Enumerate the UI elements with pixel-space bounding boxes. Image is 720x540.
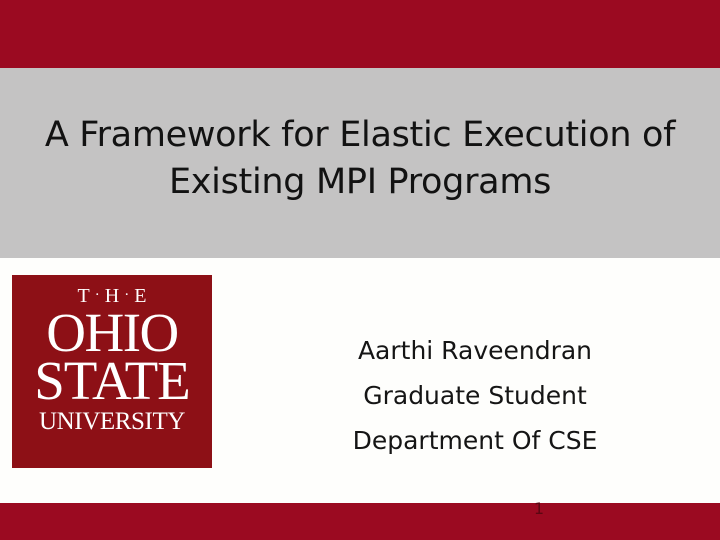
logo-word-state: STATE [12,355,212,407]
logo-word-university: UNIVERSITY [12,408,212,436]
logo-dot-1: · [93,287,102,303]
top-accent-band [0,0,720,68]
presentation-slide: A Framework for Elastic Execution of Exi… [0,0,720,540]
slide-title-line-2: Existing MPI Programs [30,159,690,206]
slide-title-line-1: A Framework for Elastic Execution of [30,112,690,159]
bottom-accent-band [0,503,720,540]
ohio-state-university-logo: T·H·E OHIO STATE UNIVERSITY [12,275,212,468]
slide-page-number: 1 [524,499,554,519]
slide-title: A Framework for Elastic Execution of Exi… [30,112,690,206]
presenter-department: Department Of CSE [335,418,615,463]
presenter-role: Graduate Student [335,373,615,418]
logo-dot-2: · [122,287,131,303]
presenter-name: Aarthi Raveendran [335,328,615,373]
presenter-byline: Aarthi Raveendran Graduate Student Depar… [335,328,615,463]
